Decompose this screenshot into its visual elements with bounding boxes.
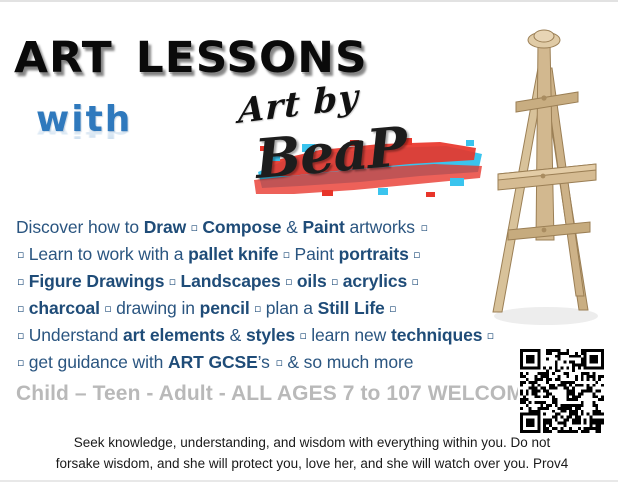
bullet-separator: ▫: [16, 302, 29, 315]
bullet-text: ’s: [258, 352, 275, 372]
bullet-separator: ▫: [409, 248, 422, 261]
bullet-keyword: Figure Drawings: [29, 271, 165, 291]
bullet-separator: ▫: [295, 329, 311, 342]
bullet-separator: ▫: [275, 356, 288, 369]
brand-logo: Art by BeaP: [218, 94, 488, 204]
bullet-keyword: oils: [297, 271, 327, 291]
bullet-keyword: pallet knife: [188, 244, 278, 264]
bullet-line-6: ▫ get guidance with ART GCSE’s ▫ & so mu…: [16, 349, 576, 376]
bullet-text: Discover how to: [16, 217, 144, 237]
bullet-text: plan a: [266, 298, 318, 318]
bullet-text: get guidance with: [29, 352, 168, 372]
bullet-separator: ▫: [327, 275, 343, 288]
poster-canvas: Art Lessons with with Art b: [0, 0, 618, 482]
bullet-separator: ▫: [16, 356, 29, 369]
bullet-list: Discover how to Draw ▫ Compose & Paint a…: [16, 214, 576, 376]
bullet-line-5: ▫ Understand art elements & styles ▫ lea…: [16, 322, 576, 349]
bullet-text: Learn to work with a: [29, 244, 188, 264]
bullet-keyword: styles: [246, 325, 295, 345]
bullet-separator: ▫: [385, 302, 398, 315]
bullet-text: Paint: [295, 244, 339, 264]
qr-code-icon[interactable]: [518, 349, 606, 433]
bullet-separator: ▫: [281, 275, 297, 288]
bullet-separator: ▫: [16, 329, 29, 342]
bullet-text: Understand: [29, 325, 123, 345]
scripture-line-1: Seek knowledge, understanding, and wisdo…: [14, 432, 610, 453]
bullet-line-1: Discover how to Draw ▫ Compose & Paint a…: [16, 214, 576, 241]
bullet-separator: ▫: [278, 248, 294, 261]
bullet-line-4: ▫ charcoal ▫ drawing in pencil ▫ plan a …: [16, 295, 576, 322]
bullet-separator: ▫: [420, 221, 429, 234]
scripture-line-2: forsake wisdom, and she will protect you…: [14, 453, 610, 474]
with-label-reflection: with: [36, 120, 132, 140]
bullet-separator: ▫: [16, 275, 29, 288]
bullet-separator: ▫: [164, 275, 180, 288]
bullet-text: & so much more: [287, 352, 413, 372]
bullet-keyword: ART GCSE: [168, 352, 258, 372]
title-block: Art Lessons: [14, 20, 559, 90]
bullet-separator: ▫: [482, 329, 495, 342]
ages-line: Child – Teen - Adult - ALL AGES 7 to 107…: [16, 381, 538, 407]
bullet-keyword: Paint: [302, 217, 344, 237]
bullet-text: drawing in: [116, 298, 200, 318]
bullet-keyword: charcoal: [29, 298, 100, 318]
bullet-keyword: Compose: [202, 217, 281, 237]
bullet-keyword: techniques: [391, 325, 482, 345]
bullet-separator: ▫: [250, 302, 266, 315]
bullet-separator: ▫: [100, 302, 116, 315]
bullet-separator: ▫: [16, 248, 29, 261]
bullet-line-2: ▫ Learn to work with a pallet knife ▫ Pa…: [16, 241, 576, 268]
bullet-keyword: Still Life: [318, 298, 385, 318]
bullet-keyword: acrylics: [343, 271, 407, 291]
bullet-keyword: portraits: [339, 244, 409, 264]
bullet-separator: ▫: [186, 221, 202, 234]
bullet-keyword: pencil: [200, 298, 250, 318]
bullet-keyword: Landscapes: [181, 271, 281, 291]
bullet-separator: ▫: [407, 275, 420, 288]
bullet-text: learn new: [311, 325, 391, 345]
scripture-text: Seek knowledge, understanding, and wisdo…: [14, 432, 610, 474]
bullet-text: &: [281, 217, 302, 237]
bullet-text: &: [225, 325, 246, 345]
with-label-block: with with: [36, 102, 132, 164]
bullet-line-3: ▫ Figure Drawings ▫ Landscapes ▫ oils ▫ …: [16, 268, 576, 295]
bullet-text: artworks: [345, 217, 420, 237]
bullet-keyword: Draw: [144, 217, 186, 237]
bullet-keyword: art elements: [123, 325, 225, 345]
